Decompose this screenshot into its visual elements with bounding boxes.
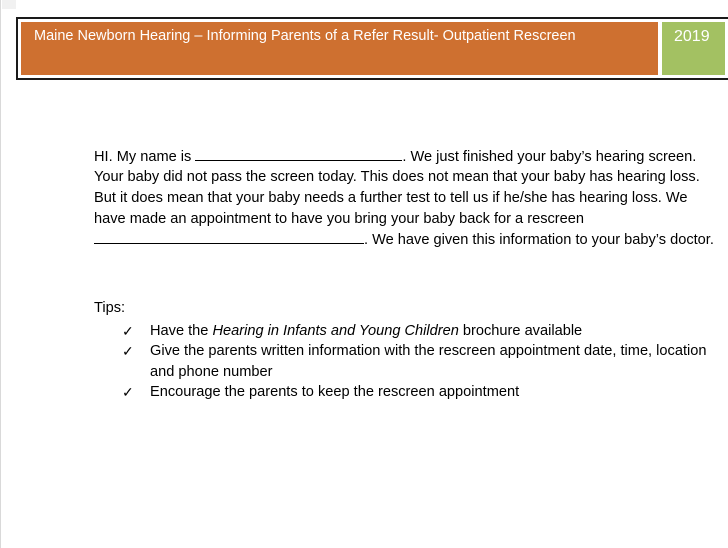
tip-text-pre: Encourage the parents to keep the rescre…: [150, 384, 519, 400]
paragraph-segment-1: HI. My name is: [94, 149, 195, 165]
paragraph-segment-3: . We have given this information to your…: [364, 232, 714, 248]
page-edge-corner: [2, 0, 16, 9]
tips-heading: Tips:: [94, 298, 716, 319]
tip-brochure-title: Hearing in Infants and Young Children: [212, 323, 458, 339]
list-item: ✓Have the Hearing in Infants and Young C…: [94, 321, 716, 342]
list-item: ✓Encourage the parents to keep the rescr…: [94, 382, 716, 403]
checkmark-icon: ✓: [122, 321, 134, 342]
slide-year-badge: 2019: [662, 22, 725, 75]
checkmark-icon: ✓: [122, 341, 134, 362]
page-edge-left: [0, 0, 1, 548]
rescreen-date-blank-field[interactable]: [94, 229, 364, 244]
name-blank-field[interactable]: [195, 146, 402, 161]
title-banner: Maine Newborn Hearing – Informing Parent…: [16, 17, 728, 80]
tips-block: Tips: ✓Have the Hearing in Infants and Y…: [94, 298, 716, 403]
tips-list: ✓Have the Hearing in Infants and Young C…: [94, 321, 716, 403]
list-item: ✓Give the parents written information wi…: [94, 341, 716, 382]
slide-title: Maine Newborn Hearing – Informing Parent…: [21, 22, 658, 75]
tip-text-pre: Give the parents written information wit…: [150, 343, 706, 380]
checkmark-icon: ✓: [122, 382, 134, 403]
informing-parents-paragraph: HI. My name is . We just finished your b…: [94, 146, 716, 251]
tip-text-post: brochure available: [459, 323, 582, 339]
tip-text-pre: Have the: [150, 323, 212, 339]
body-content: HI. My name is . We just finished your b…: [94, 146, 716, 251]
